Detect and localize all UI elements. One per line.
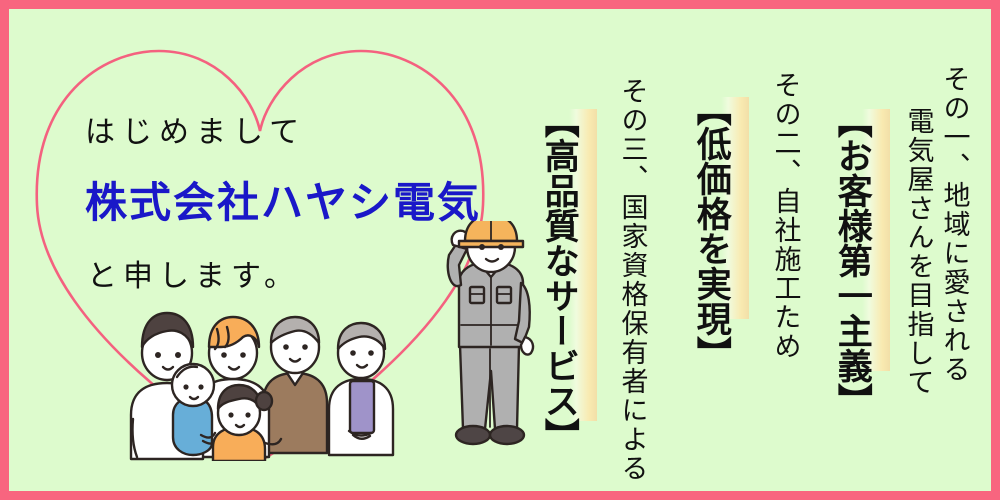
- family-of-six-illustration: [117, 285, 427, 461]
- point-one-body-line2: 電気屋さんを目指して: [904, 107, 932, 455]
- poster-canvas: はじめまして 株式会社ハヤシ電気 と申します。: [0, 0, 1000, 500]
- poster-body: はじめまして 株式会社ハヤシ電気 と申します。: [9, 9, 991, 491]
- electrician-worker-illustration: [433, 221, 551, 469]
- point-three-highlight: 【高品質なサービス】: [540, 103, 576, 433]
- greeting-text: はじめまして: [85, 107, 306, 151]
- point-two-body: その二、自社施工ため: [771, 71, 799, 361]
- point-three-body: その三、国家資格保有者による: [618, 77, 646, 449]
- point-one-highlight: 【お客様第一主義】: [833, 103, 869, 383]
- point-two-highlight: 【低価格を実現】: [692, 91, 728, 331]
- company-name-text: 株式会社ハヤシ電気: [85, 169, 481, 230]
- point-one-body-line1: その一、地域に愛される: [940, 65, 968, 455]
